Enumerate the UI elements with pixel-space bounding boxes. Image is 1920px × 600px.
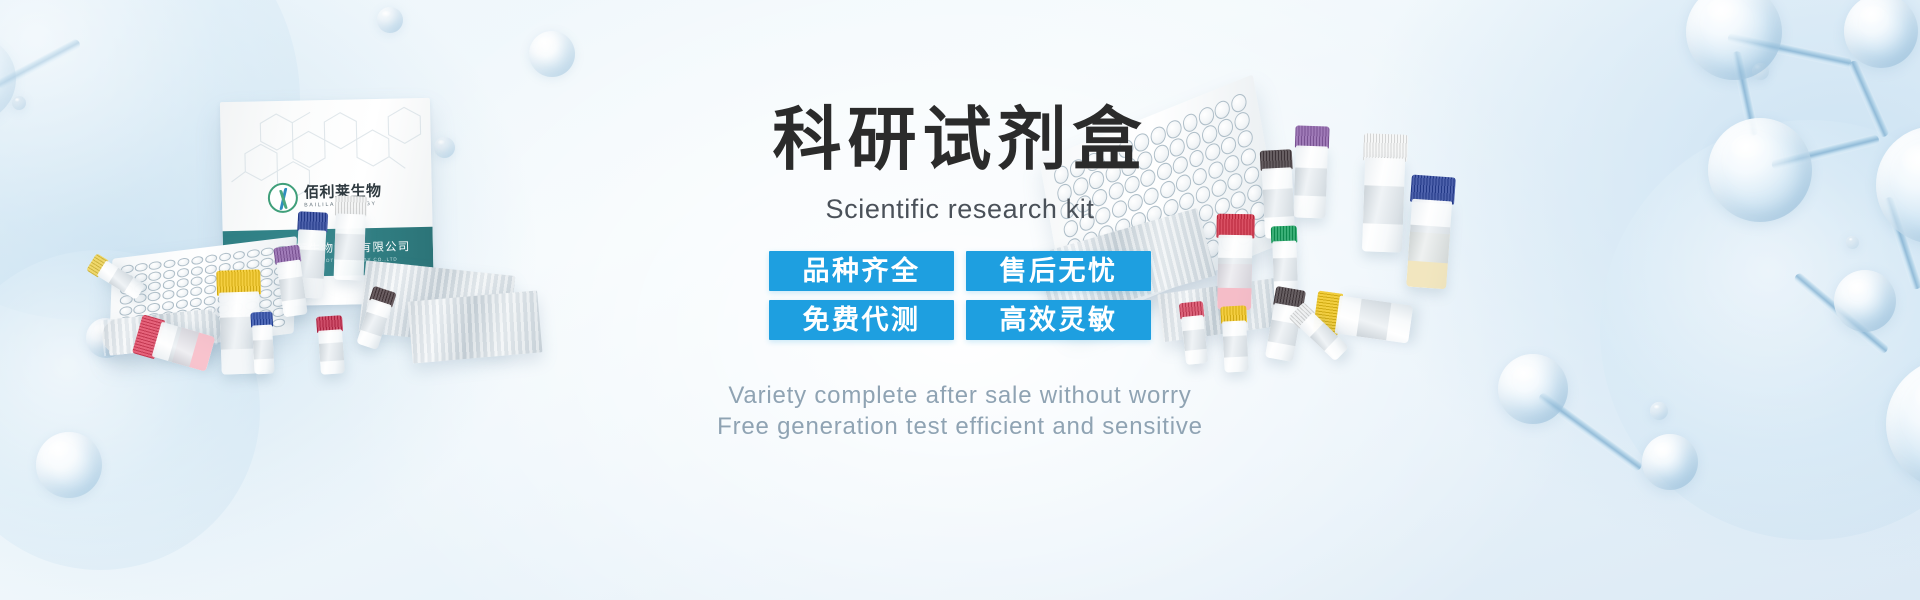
banner-text-block: 科研试剂盒 Scientific research kit 品种齐全 售后无忧 … [0, 0, 1920, 443]
banner-tagline-line-2: Free generation test efficient and sensi… [0, 411, 1920, 443]
banner-subtitle-en: Scientific research kit [0, 194, 1920, 225]
banner-tagline-line-1: Variety complete after sale without worr… [0, 380, 1920, 412]
feature-badge-high-sensitivity[interactable]: 高效灵敏 [966, 300, 1151, 340]
feature-badge-after-sale[interactable]: 售后无忧 [966, 251, 1151, 291]
hero-banner: 佰利莱生物 BAILILAI BIOLOGY 上海佰利莱生物科技有限公司 SHA… [0, 0, 1920, 600]
feature-badge-group: 品种齐全 售后无忧 免费代测 高效灵敏 [769, 251, 1151, 340]
banner-tagline: Variety complete after sale without worr… [0, 380, 1920, 443]
banner-title-cn: 科研试剂盒 [0, 103, 1920, 178]
feature-badge-variety-complete[interactable]: 品种齐全 [769, 251, 954, 291]
feature-badge-free-testing[interactable]: 免费代测 [769, 300, 954, 340]
